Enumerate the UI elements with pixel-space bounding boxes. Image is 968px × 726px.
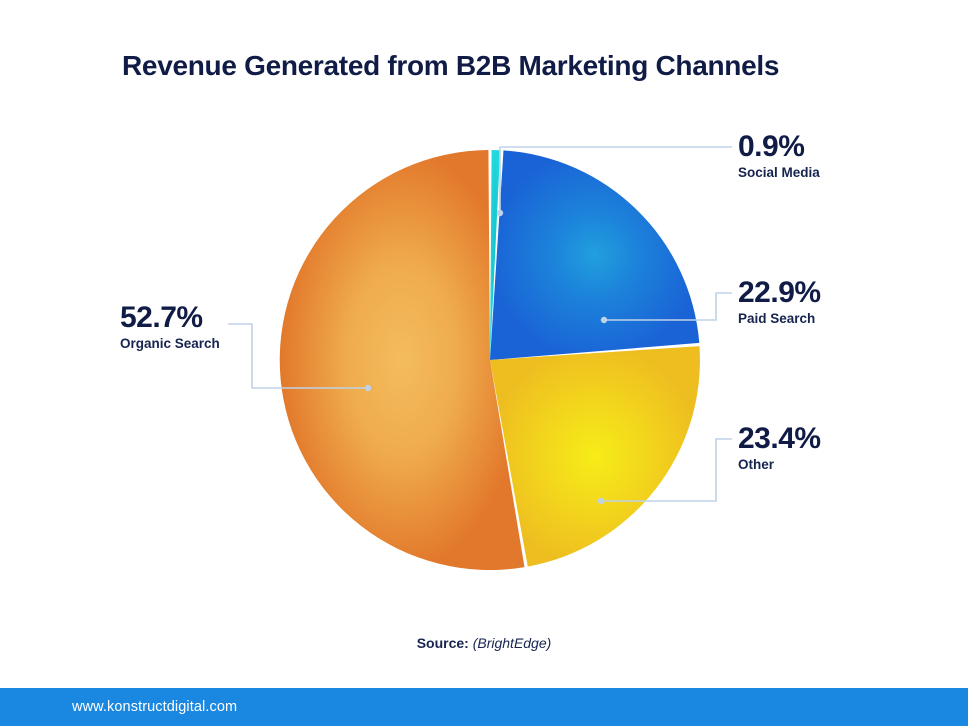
source-attribution: Source: (BrightEdge) [0, 635, 968, 651]
callout-paid-search: 22.9% Paid Search [738, 277, 821, 329]
source-value: (BrightEdge) [473, 635, 552, 651]
callout-other: 23.4% Other [738, 423, 821, 475]
callout-paid-search-value: 22.9% [738, 277, 821, 309]
callout-other-value: 23.4% [738, 423, 821, 455]
pie-slices [280, 150, 700, 570]
pie-chart [0, 0, 968, 726]
source-label: Source: [417, 635, 469, 651]
callout-social-media: 0.9% Social Media [738, 131, 820, 183]
leader-dot-social-media [497, 210, 503, 216]
leader-dot-other [598, 498, 604, 504]
callout-organic-search-value: 52.7% [120, 302, 220, 334]
callout-social-media-value: 0.9% [738, 131, 820, 163]
pie-slice-paid-search[interactable] [490, 150, 699, 360]
callout-social-media-label: Social Media [738, 163, 820, 183]
callout-organic-search: 52.7% Organic Search [120, 302, 220, 354]
infographic-page: Revenue Generated from B2B Marketing Cha… [0, 0, 968, 726]
callout-other-label: Other [738, 455, 821, 475]
leader-dot-organic-search [365, 385, 371, 391]
pie-slice-other[interactable] [490, 346, 700, 566]
footer-bar: www.konstructdigital.com [0, 688, 968, 726]
leader-dot-paid-search [601, 317, 607, 323]
callout-organic-search-label: Organic Search [120, 334, 220, 354]
pie-chart-canvas [0, 0, 968, 726]
callout-paid-search-label: Paid Search [738, 309, 821, 329]
footer-website-url[interactable]: www.konstructdigital.com [72, 688, 237, 726]
pie-slice-organic-search[interactable] [280, 150, 525, 570]
